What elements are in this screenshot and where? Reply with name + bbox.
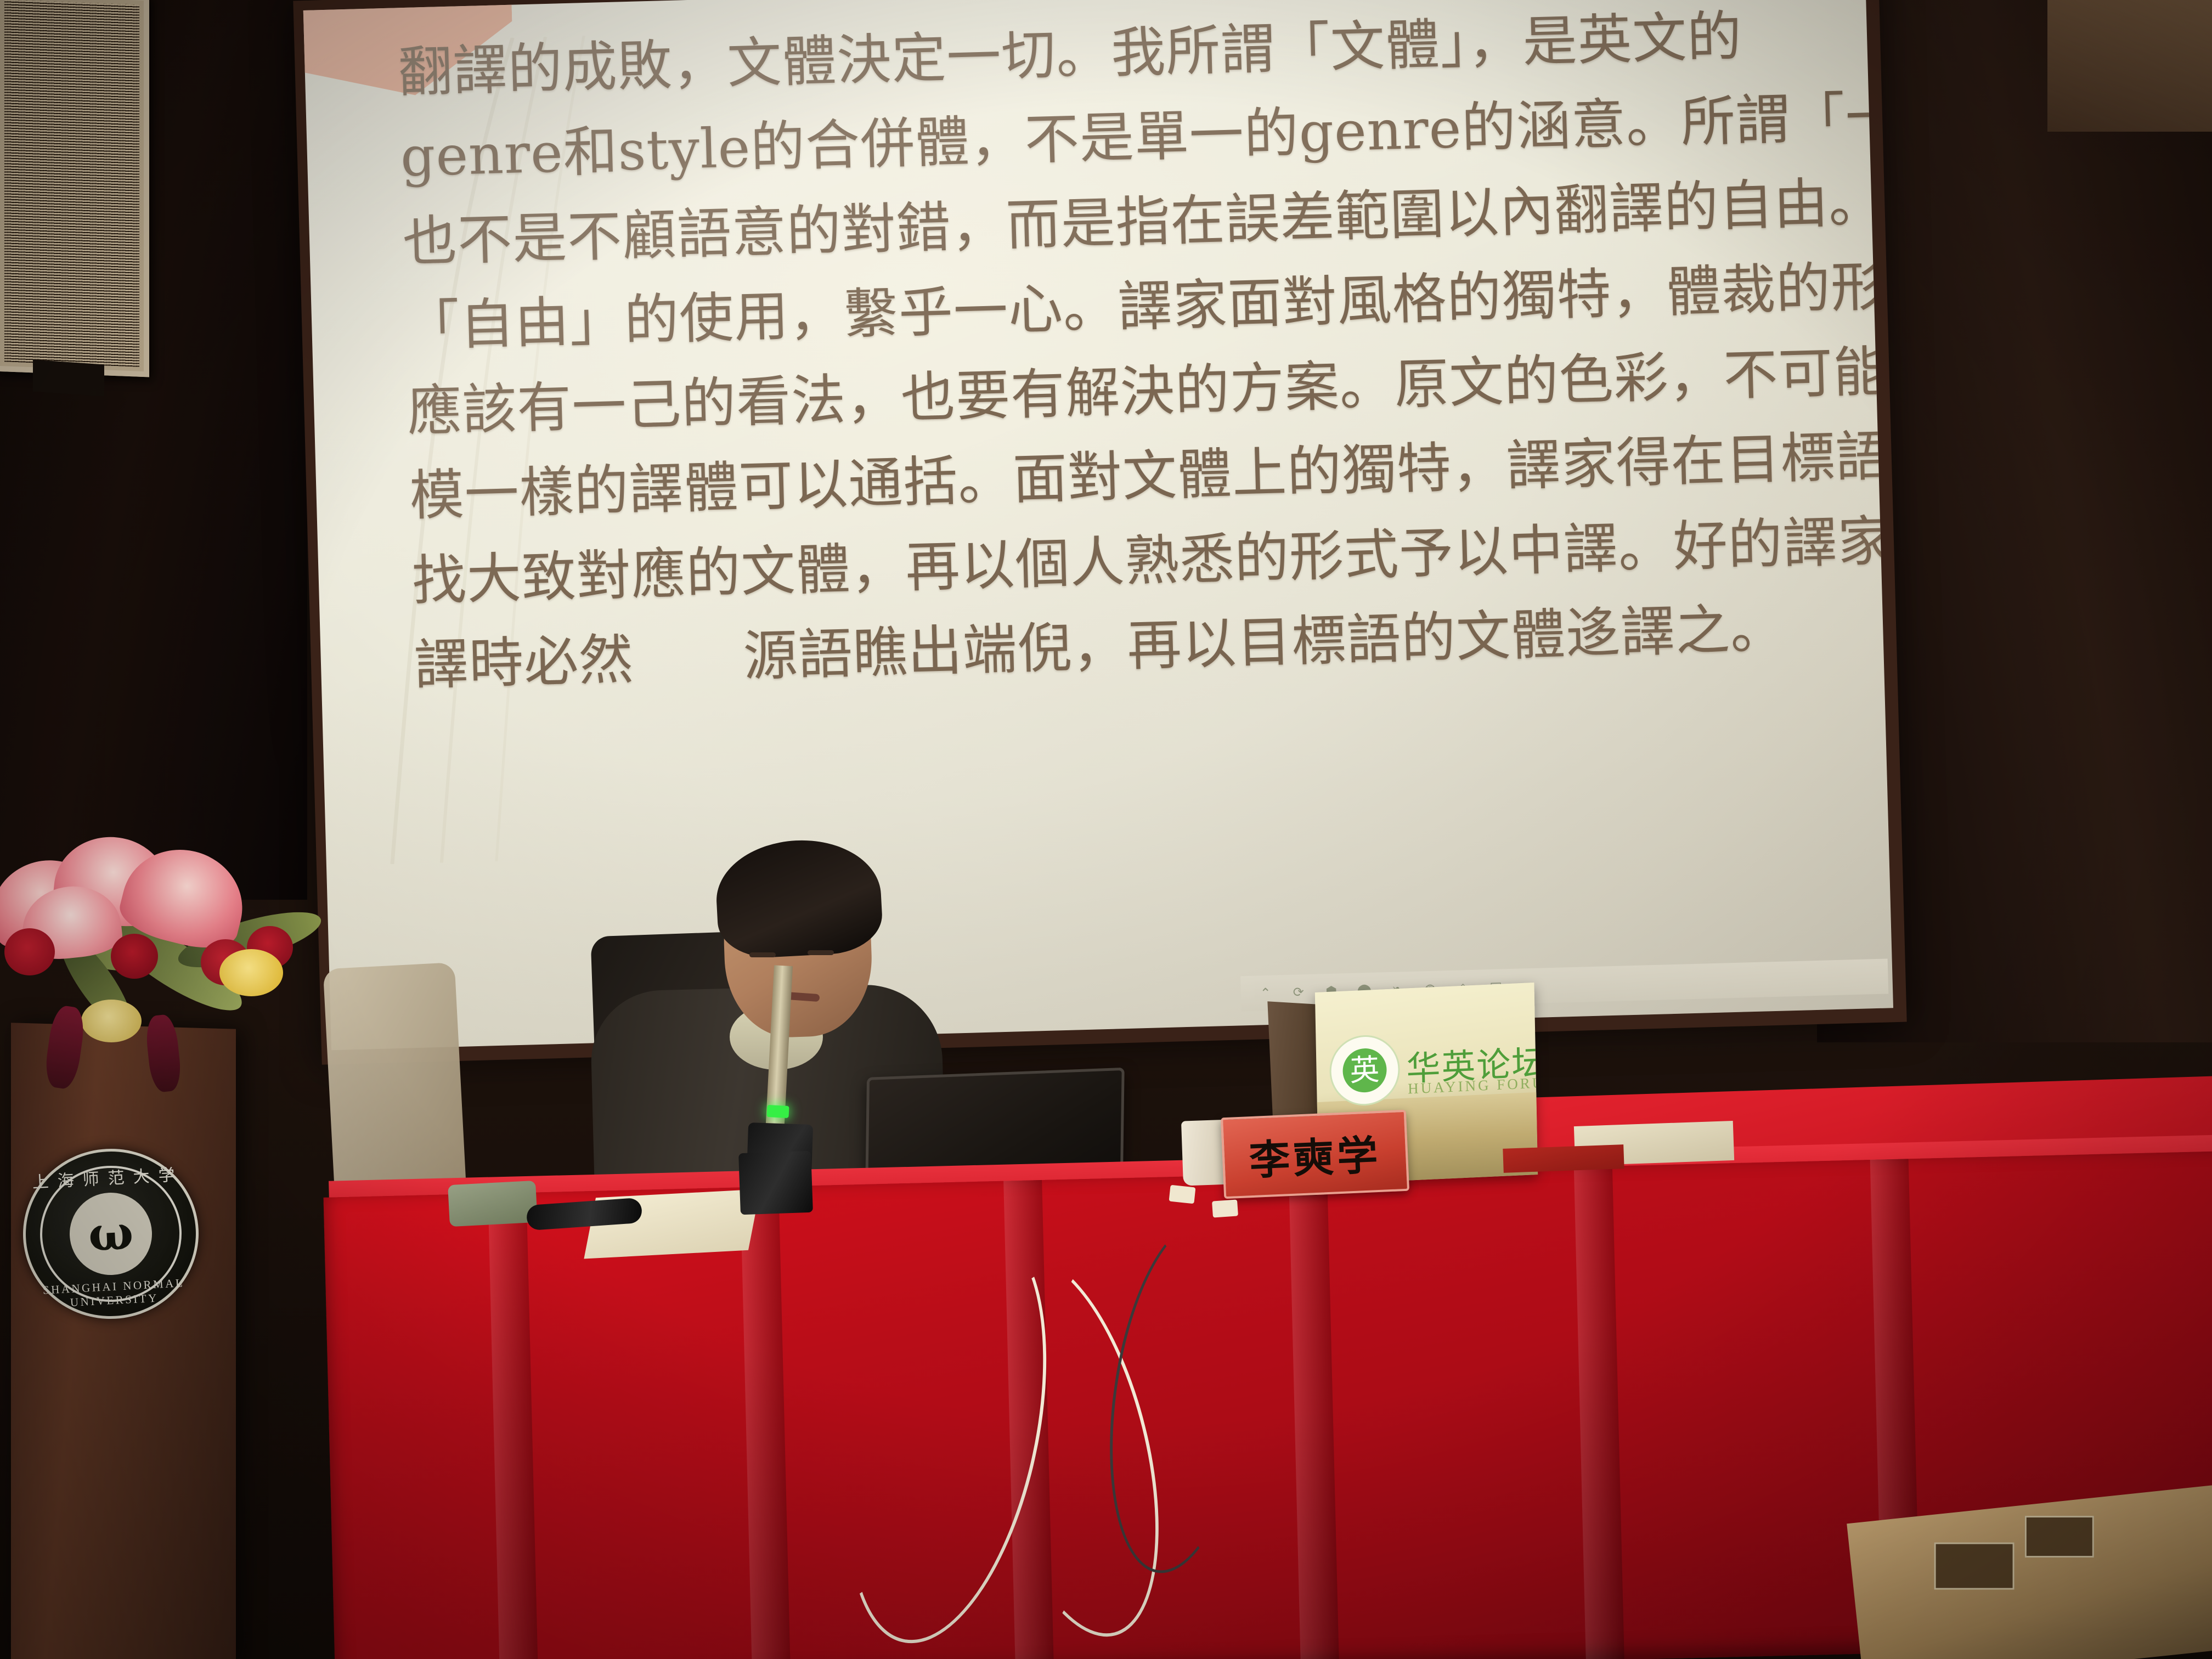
projection-screen: 翻譯的成敗，文體決定一切。我所謂「文體」，是英文的 genre和style的合併… (303, 0, 1893, 1050)
slide-text-block: 翻譯的成敗，文體決定一切。我所謂「文體」，是英文的 genre和style的合併… (397, 0, 1824, 708)
rose-bud (4, 928, 55, 975)
yellow-bloom (81, 1000, 142, 1042)
cable-clip (1212, 1199, 1238, 1217)
rose-bud (111, 934, 158, 979)
floor-outlet-box (2025, 1516, 2094, 1558)
speaker-podium (11, 1023, 236, 1659)
chevron-up-icon[interactable]: ⌃ (1256, 984, 1275, 1003)
green-pouch (448, 1181, 538, 1227)
yellow-bloom (219, 949, 283, 996)
lecture-hall-photo: 翻譯的成敗，文體決定一切。我所謂「文體」，是英文的 genre和style的合併… (0, 0, 2212, 1659)
projection-screen-frame: 翻譯的成敗，文體決定一切。我所謂「文體」，是英文的 genre和style的合併… (293, 0, 1906, 1065)
eye (808, 950, 834, 955)
university-emblem: 上海师范大学 ω SHANGHAI NORMAL UNIVERSITY (19, 1144, 203, 1323)
red-folder (1503, 1144, 1624, 1173)
speaker-name: 李奭学 (1248, 1122, 1382, 1186)
forum-logo-icon: 英 (1329, 1034, 1400, 1107)
wall-panel (2047, 0, 2212, 132)
floral-arrangement (0, 785, 373, 1070)
empty-chair (323, 962, 467, 1210)
sync-icon[interactable]: ⟳ (1289, 983, 1308, 1002)
wireless-beltpack[interactable] (738, 1151, 813, 1215)
microphone-led-icon (766, 1105, 789, 1118)
eye (749, 952, 776, 957)
presenter-hair (714, 836, 884, 960)
speaker-grille-icon (4, 0, 139, 367)
forum-logo-glyph: 英 (1342, 1047, 1387, 1093)
speaker-name-plate: 李奭学 (1221, 1110, 1409, 1199)
floor-outlet-box (1934, 1543, 2015, 1590)
cable-clip (1169, 1185, 1196, 1204)
speaker-mount (33, 359, 104, 396)
wall-speaker (0, 0, 149, 377)
